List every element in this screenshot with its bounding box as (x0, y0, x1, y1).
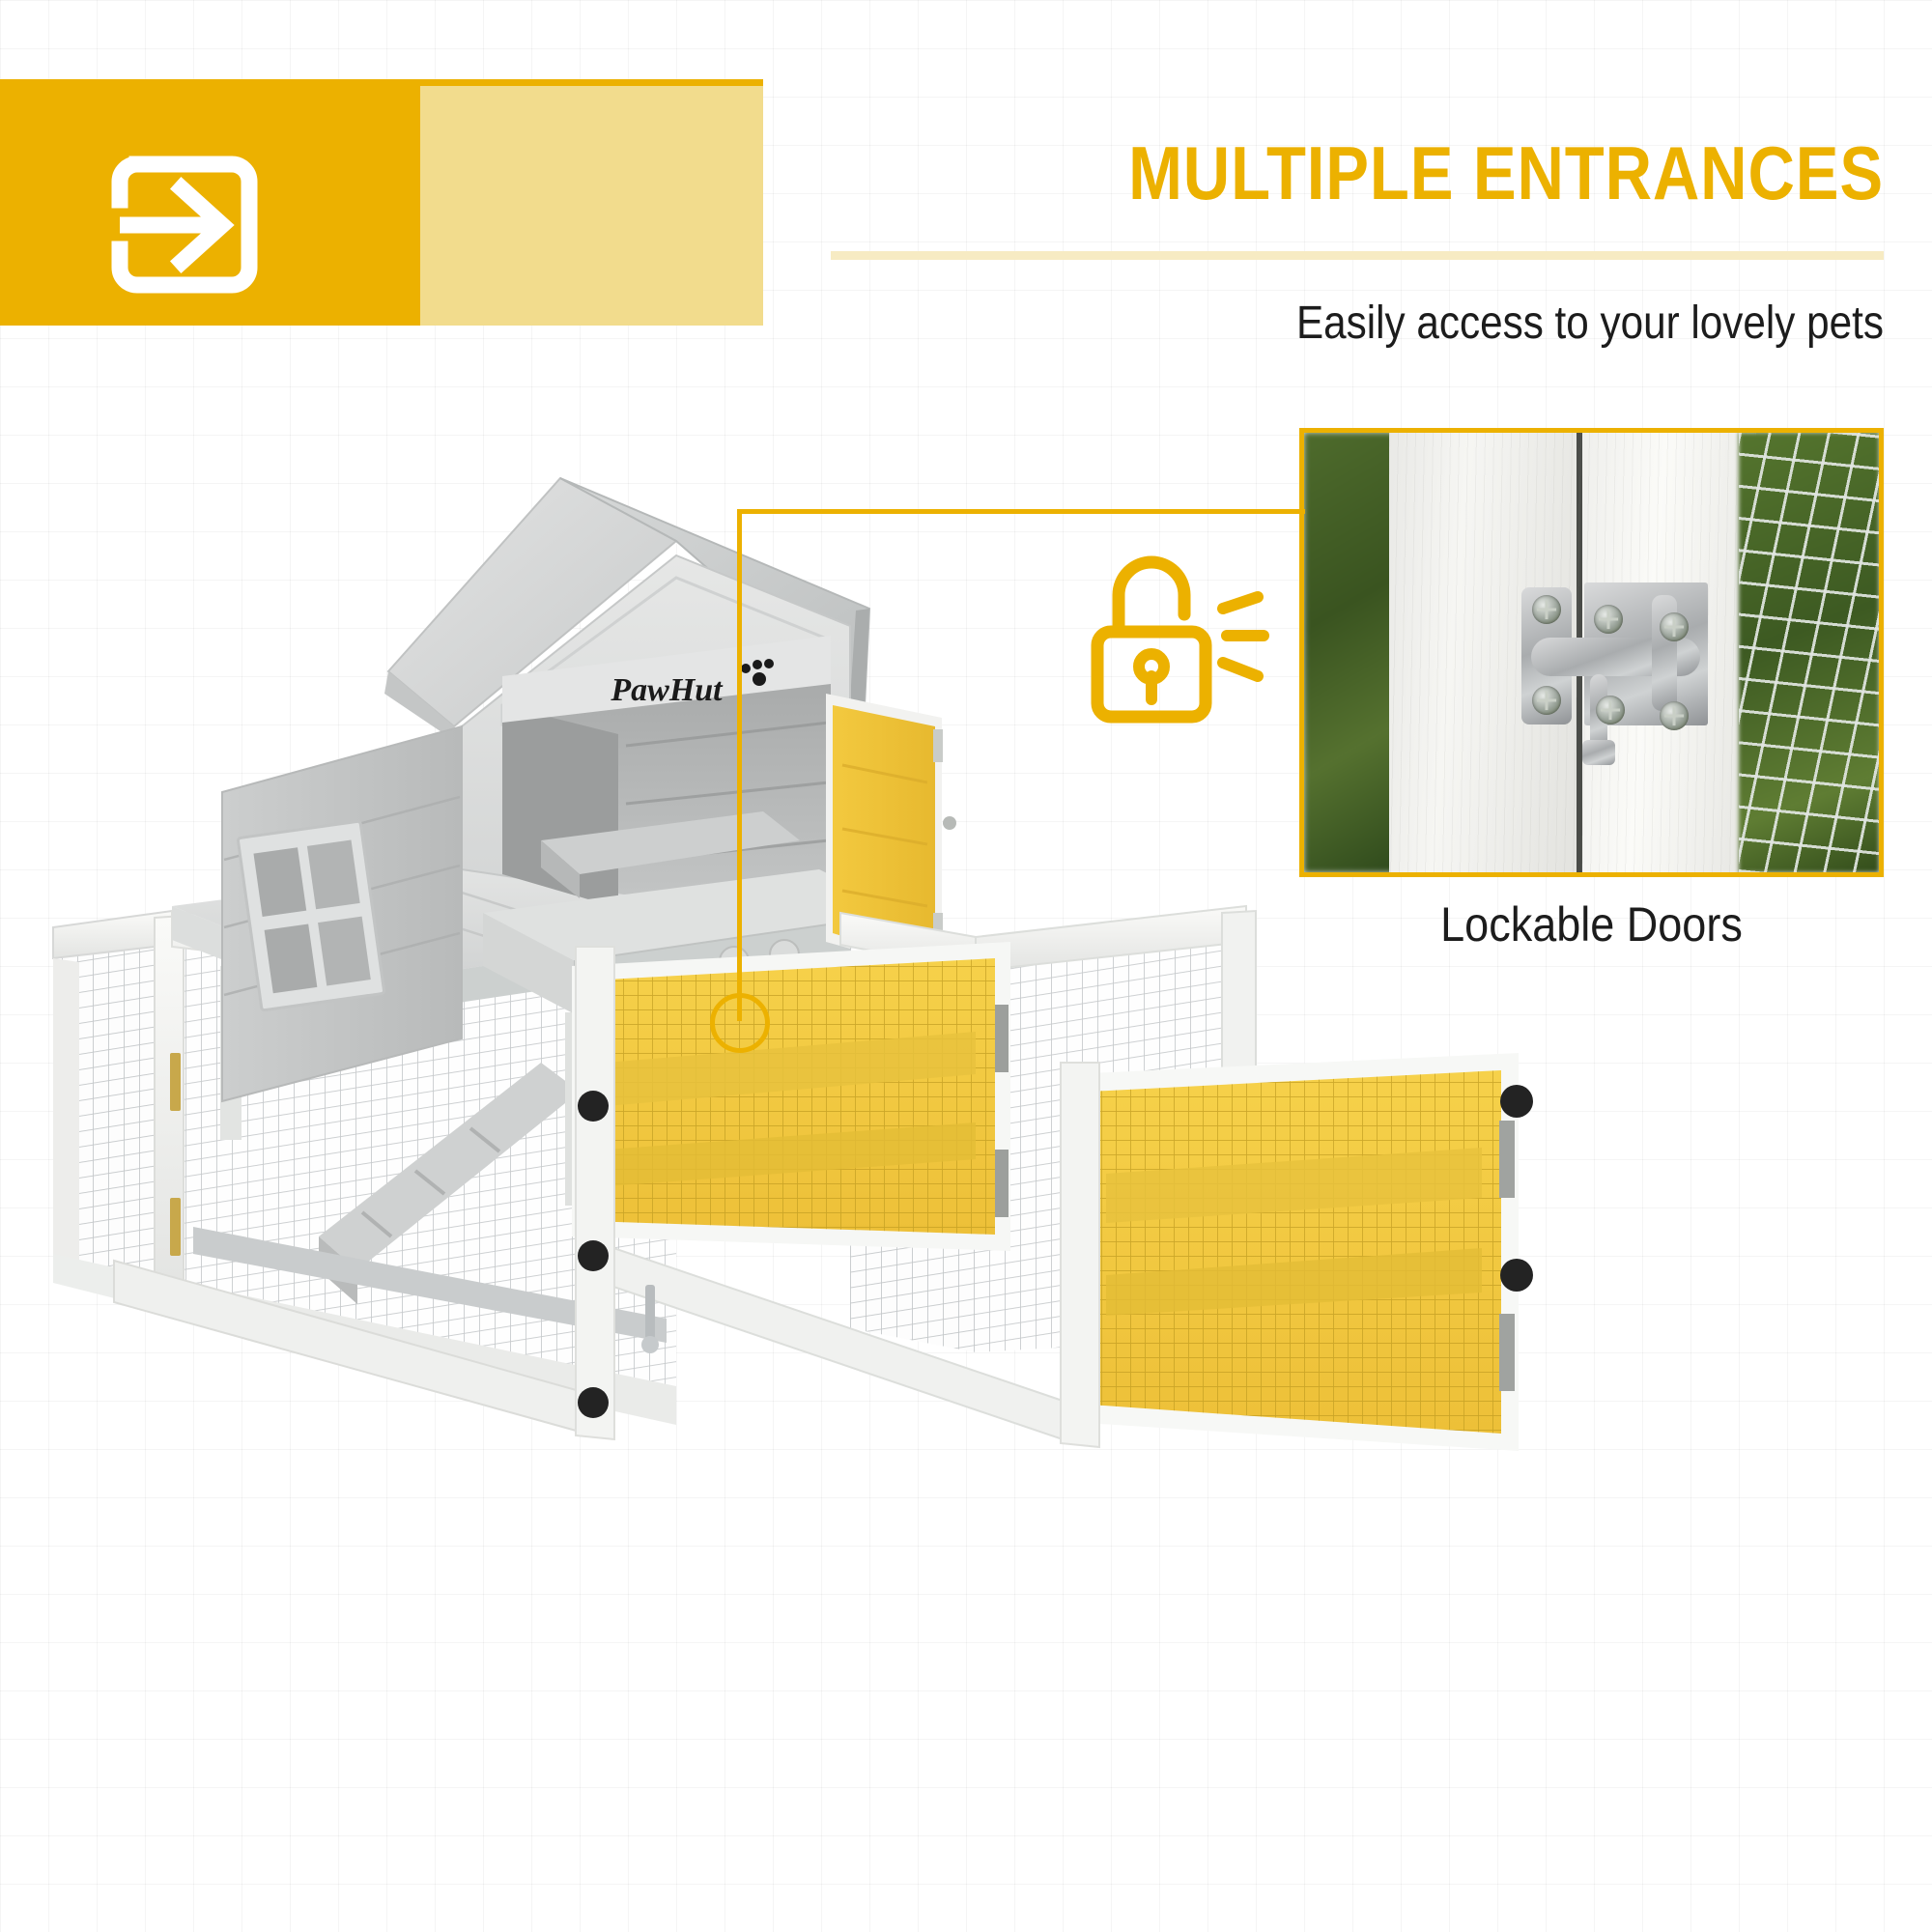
latch-screw (1596, 696, 1625, 724)
door-knob (578, 1240, 609, 1271)
photo-grass-left (1304, 433, 1396, 872)
page-subtitle: Easily access to your lovely pets (957, 298, 1884, 350)
photo-wire-mesh (1739, 433, 1879, 872)
door-knob (578, 1091, 609, 1122)
door-knob (578, 1387, 609, 1418)
inset-caption: Lockable Doors (1328, 896, 1855, 952)
latch-screw (1532, 595, 1561, 624)
door-latch-highlight-ring (710, 993, 770, 1053)
latch-pin-cap (1582, 740, 1615, 765)
page-title: MULTIPLE ENTRANCES (979, 135, 1884, 211)
run-door-right (1070, 1053, 1519, 1451)
header-text-block: MULTIPLE ENTRANCES Easily access to your… (831, 135, 1884, 350)
run-door-left (572, 942, 1010, 1251)
header-tint-top-stripe (420, 79, 763, 86)
latch-screw (1532, 686, 1561, 715)
callout-line-horizontal (737, 509, 1305, 514)
latch-screw (1594, 605, 1623, 634)
title-divider (831, 251, 1884, 260)
enter-arrow-icon (87, 135, 309, 314)
door-knob (1500, 1085, 1533, 1118)
callout-line-vertical (737, 509, 742, 1021)
brand-logo: PawHut (610, 672, 724, 708)
latch-screw (1660, 612, 1689, 641)
header-tint-block (420, 86, 763, 326)
unlocked-padlock-icon (1080, 539, 1278, 737)
door-knob (1500, 1259, 1533, 1292)
lockable-door-photo (1299, 428, 1884, 877)
latch-screw (1660, 701, 1689, 730)
